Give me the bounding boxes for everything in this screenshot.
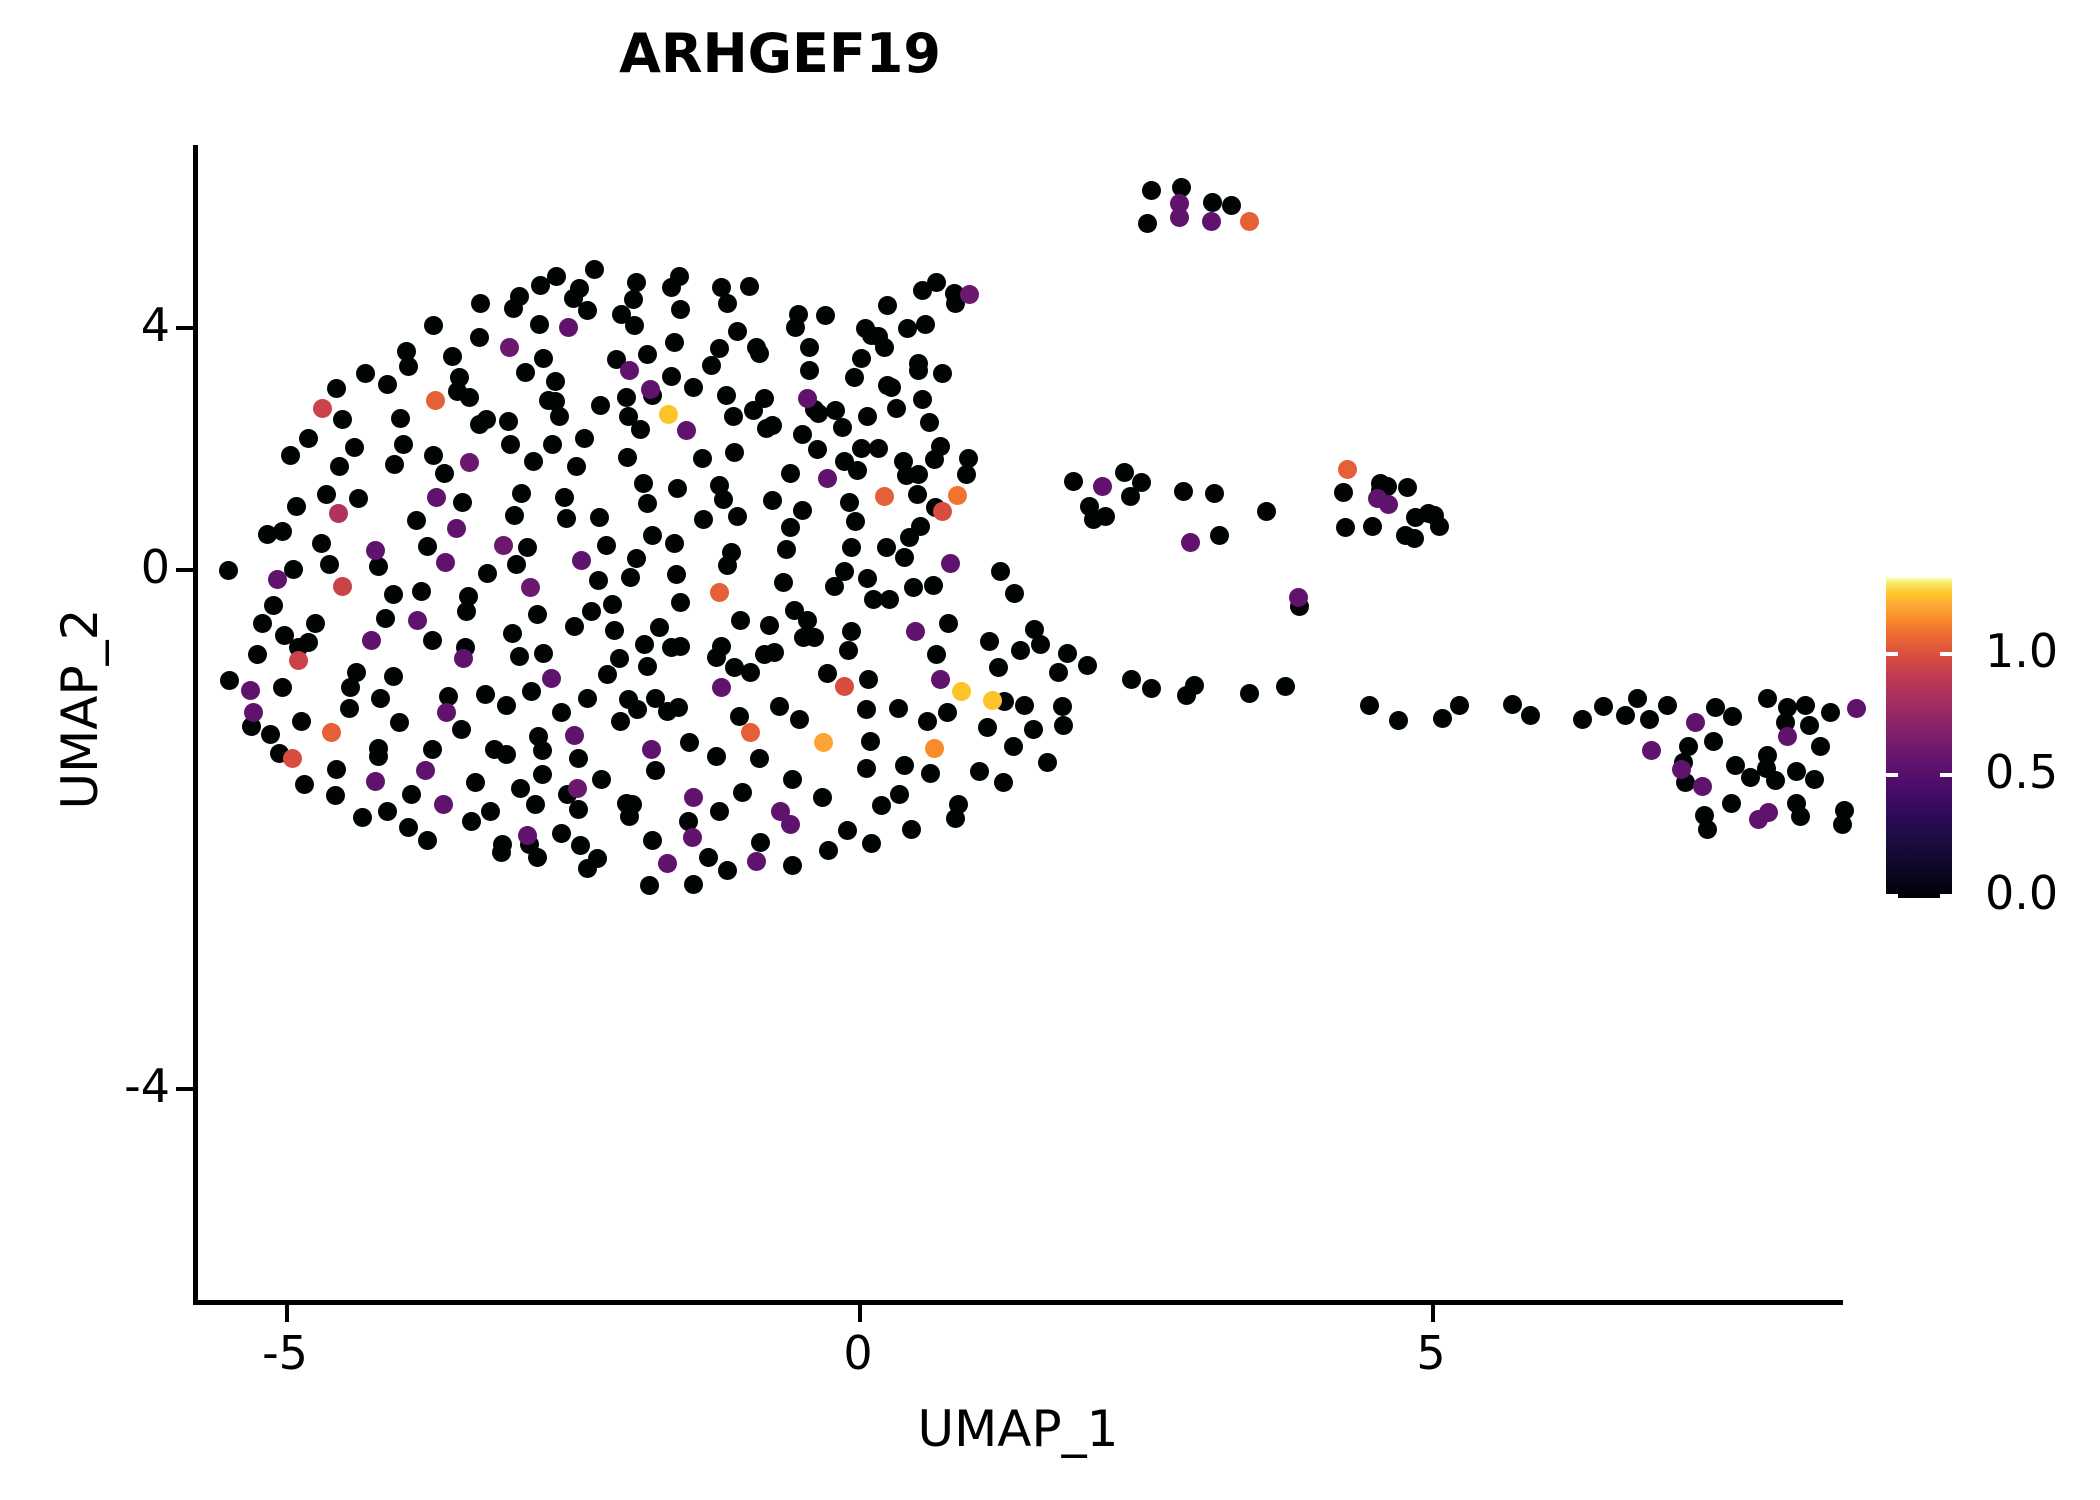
scatter-point: [592, 770, 611, 789]
scatter-point: [356, 364, 375, 383]
scatter-point: [578, 689, 597, 708]
scatter-point: [1847, 699, 1866, 718]
scatter-point: [909, 465, 928, 484]
scatter-point: [248, 645, 267, 664]
scatter-point: [619, 690, 638, 709]
scatter-point: [612, 305, 631, 324]
scatter-point: [591, 396, 610, 415]
scatter-point: [894, 452, 913, 471]
scatter-point: [518, 826, 537, 845]
scatter-point: [864, 590, 883, 609]
scatter-point: [989, 658, 1008, 677]
scatter-point: [1741, 768, 1760, 787]
scatter-point: [710, 339, 729, 358]
scatter-point: [1679, 737, 1698, 756]
scatter-point: [1726, 756, 1745, 775]
scatter-point: [512, 484, 531, 503]
scatter-point: [299, 633, 318, 652]
scatter-point: [677, 421, 696, 440]
scatter-point: [476, 685, 495, 704]
scatter-point: [933, 502, 952, 521]
scatter-point: [459, 587, 478, 606]
scatter-point: [1202, 212, 1221, 231]
scatter-point: [793, 501, 812, 520]
scatter-point: [665, 534, 684, 553]
scatter-point: [384, 585, 403, 604]
scatter-point: [718, 556, 737, 575]
scatter-point: [751, 833, 770, 852]
scatter-point: [911, 517, 930, 536]
scatter-point: [619, 407, 638, 426]
scatter-point: [800, 338, 819, 357]
scatter-point: [921, 764, 940, 783]
scatter-point: [856, 319, 875, 338]
scatter-point: [481, 802, 500, 821]
scatter-point: [443, 347, 462, 366]
scatter-point: [707, 648, 726, 667]
scatter-point: [552, 703, 571, 722]
scatter-point: [241, 681, 260, 700]
scatter-point: [547, 267, 566, 286]
scatter-point: [643, 831, 662, 850]
scatter-point: [1693, 777, 1712, 796]
scatter-point: [520, 835, 539, 854]
scatter-point: [1405, 529, 1424, 548]
scatter-point: [785, 601, 804, 620]
colorbar-tick-0.5-right: [1940, 773, 1952, 777]
scatter-point: [1433, 709, 1452, 728]
scatter-point: [889, 699, 908, 718]
scatter-point: [717, 386, 736, 405]
scatter-point: [623, 795, 642, 814]
x-tick-label-neg5: -5: [215, 1330, 355, 1376]
scatter-point: [564, 289, 583, 308]
scatter-point: [1222, 196, 1241, 215]
scatter-point: [712, 278, 731, 297]
scatter-point: [570, 279, 589, 298]
scatter-point: [852, 349, 871, 368]
scatter-point: [728, 322, 747, 341]
scatter-point: [909, 354, 928, 373]
scatter-point: [492, 843, 511, 862]
scatter-point: [781, 464, 800, 483]
scatter-point: [1776, 713, 1795, 732]
scatter-point: [635, 635, 654, 654]
scatter-point: [920, 413, 939, 432]
scatter-point: [1210, 526, 1229, 545]
scatter-point: [694, 510, 713, 529]
scatter-point: [567, 457, 586, 476]
scatter-point: [453, 493, 472, 512]
scatter-point: [872, 796, 891, 815]
scatter-point: [916, 315, 935, 334]
scatter-point: [777, 540, 796, 559]
scatter-point: [607, 350, 626, 369]
scatter-point: [435, 464, 454, 483]
scatter-point: [846, 512, 865, 531]
scatter-point: [926, 498, 945, 517]
scatter-point: [1787, 794, 1806, 813]
scatter-point: [349, 489, 368, 508]
scatter-point: [808, 440, 827, 459]
scatter-point: [994, 773, 1013, 792]
scatter-point: [765, 643, 784, 662]
scatter-point: [1796, 696, 1815, 715]
scatter-point: [895, 756, 914, 775]
scatter-point: [897, 466, 916, 485]
scatter-point: [1425, 506, 1444, 525]
scatter-point: [605, 621, 624, 640]
scatter-point: [668, 479, 687, 498]
scatter-point: [1389, 711, 1408, 730]
scatter-point: [258, 525, 277, 544]
scatter-point: [924, 576, 943, 595]
scatter-point: [869, 327, 888, 346]
scatter-point: [658, 854, 677, 873]
scatter-point: [631, 420, 650, 439]
scatter-point: [755, 645, 774, 664]
scatter-point: [794, 628, 813, 647]
scatter-point: [1334, 483, 1353, 502]
scatter-point: [333, 410, 352, 429]
scatter-point: [369, 747, 388, 766]
scatter-point: [646, 761, 665, 780]
scatter-point: [1024, 720, 1043, 739]
scatter-point: [840, 493, 859, 512]
scatter-point: [869, 439, 888, 458]
y-tick-mark-neg4: [176, 1087, 193, 1091]
scatter-point: [625, 316, 644, 335]
scatter-point: [650, 618, 669, 637]
scatter-point: [1371, 481, 1390, 500]
scatter-point: [1676, 773, 1695, 792]
scatter-point: [770, 697, 789, 716]
scatter-point: [877, 538, 896, 557]
scatter-point: [826, 401, 845, 420]
scatter-point: [1674, 753, 1693, 772]
scatter-point: [617, 794, 636, 813]
scatter-point: [1378, 477, 1397, 496]
scatter-point: [546, 372, 565, 391]
scatter-point: [219, 561, 238, 580]
scatter-point: [447, 519, 466, 538]
scatter-point: [665, 333, 684, 352]
scatter-point: [620, 361, 639, 380]
scatter-point: [1038, 753, 1057, 772]
scatter-point: [617, 388, 636, 407]
scatter-point: [452, 720, 471, 739]
scatter-point: [693, 449, 712, 468]
scatter-point: [671, 593, 690, 612]
scatter-point: [722, 543, 741, 562]
scatter-point: [275, 626, 294, 645]
scatter-point: [460, 453, 479, 472]
scatter-point: [918, 712, 937, 731]
scatter-point: [733, 783, 752, 802]
scatter-point: [643, 386, 662, 405]
scatter-point: [763, 491, 782, 510]
scatter-point: [466, 773, 485, 792]
scatter-point: [667, 565, 686, 584]
scatter-point: [1054, 716, 1073, 735]
scatter-point: [531, 276, 550, 295]
colorbar-tick-1.0-right: [1940, 652, 1952, 656]
scatter-point: [805, 400, 824, 419]
scatter-point: [333, 577, 352, 596]
scatter-point: [1170, 208, 1189, 227]
scatter-point: [244, 703, 263, 722]
scatter-point: [597, 536, 616, 555]
scatter-point: [744, 401, 763, 420]
scatter-point: [702, 356, 721, 375]
scatter-point: [818, 469, 837, 488]
scatter-point: [568, 779, 587, 798]
scatter-point: [862, 326, 881, 345]
scatter-point: [684, 875, 703, 894]
scatter-point: [887, 399, 906, 418]
scatter-point: [353, 808, 372, 827]
scatter-point: [1672, 760, 1691, 779]
scatter-point: [641, 380, 660, 399]
y-tick-mark-0: [176, 568, 193, 572]
scatter-point: [627, 549, 646, 568]
scatter-point: [578, 301, 597, 320]
scatter-point: [789, 305, 808, 324]
scatter-point: [572, 551, 591, 570]
scatter-point: [306, 614, 325, 633]
scatter-point: [497, 696, 516, 715]
scatter-point: [1031, 635, 1050, 654]
scatter-point: [493, 835, 512, 854]
scatter-point: [1240, 212, 1259, 231]
scatter-point: [725, 658, 744, 677]
colorbar-label-0.0: 0.0: [1985, 870, 2100, 916]
scatter-point: [399, 818, 418, 837]
scatter-point: [457, 602, 476, 621]
scatter-point: [1757, 759, 1776, 778]
scatter-point: [1172, 178, 1191, 197]
scatter-point: [755, 389, 774, 408]
scatter-point: [1642, 741, 1661, 760]
umap-feature-plot: ARHGEF19 4 0 -4 -5 0 5 UMAP_1 UMAP_2 1.0…: [0, 0, 2100, 1500]
scatter-point: [485, 740, 504, 759]
scatter-point: [312, 534, 331, 553]
scatter-point: [478, 564, 497, 583]
scatter-point: [1658, 696, 1677, 715]
scatter-point: [699, 848, 718, 867]
scatter-point: [261, 725, 280, 744]
scatter-point: [1758, 746, 1777, 765]
scatter-point: [882, 378, 901, 397]
scatter-point: [938, 703, 957, 722]
scatter-point: [662, 278, 681, 297]
scatter-point: [1640, 710, 1659, 729]
scatter-point: [857, 700, 876, 719]
scatter-point: [264, 596, 283, 615]
scatter-point: [543, 435, 562, 454]
scatter-point: [813, 788, 832, 807]
scatter-point: [1115, 463, 1134, 482]
scatter-point: [1142, 181, 1161, 200]
scatter-point: [559, 318, 578, 337]
scatter-point: [845, 368, 864, 387]
scatter-point: [394, 435, 413, 454]
scatter-point: [1758, 689, 1777, 708]
scatter-point: [731, 611, 750, 630]
y-axis-title: UMAP_2: [51, 309, 109, 1109]
scatter-point: [555, 488, 574, 507]
scatter-point: [1138, 214, 1157, 233]
scatter-point: [369, 557, 388, 576]
scatter-point: [571, 836, 590, 855]
scatter-point: [1064, 472, 1083, 491]
scatter-point: [819, 841, 838, 860]
scatter-point: [857, 759, 876, 778]
scatter-point: [499, 412, 518, 431]
scatter-point: [925, 450, 944, 469]
scatter-point: [437, 703, 456, 722]
scatter-point: [510, 647, 529, 666]
scatter-point: [904, 578, 923, 597]
scatter-point: [718, 861, 737, 880]
scatter-point: [504, 299, 523, 318]
scatter-point: [683, 828, 702, 847]
scatter-point: [875, 338, 894, 357]
scatter-point: [424, 316, 443, 335]
scatter-point: [270, 744, 289, 763]
scatter-point: [550, 407, 569, 426]
scatter-point: [1121, 487, 1140, 506]
scatter-point: [1290, 597, 1309, 616]
scatter-point: [747, 852, 766, 871]
scatter-point: [983, 691, 1002, 710]
scatter-point: [805, 628, 824, 647]
scatter-point: [292, 712, 311, 731]
scatter-point: [557, 509, 576, 528]
scatter-point: [588, 849, 607, 868]
scatter-point: [424, 446, 443, 465]
scatter-point: [1686, 713, 1705, 732]
scatter-point: [730, 707, 749, 726]
scatter-point: [671, 637, 690, 656]
scatter-point: [818, 664, 837, 683]
scatter-point: [740, 277, 759, 296]
colorbar-gradient: [1886, 578, 1952, 898]
scatter-point: [1053, 697, 1072, 716]
scatter-point: [1450, 696, 1469, 715]
scatter-point: [284, 560, 303, 579]
scatter-point: [948, 486, 967, 505]
scatter-point: [941, 554, 960, 573]
scatter-point: [1289, 588, 1308, 607]
scatter-point: [1058, 644, 1077, 663]
scatter-point: [1096, 507, 1115, 526]
scatter-point: [906, 622, 925, 641]
scatter-point: [890, 785, 909, 804]
scatter-point: [423, 740, 442, 759]
scatter-point: [835, 677, 854, 696]
colorbar-label-1.0: 1.0: [1985, 628, 2100, 674]
scatter-point: [790, 710, 809, 729]
scatter-point: [289, 638, 308, 657]
scatter-point: [1093, 477, 1112, 496]
scatter-point: [575, 429, 594, 448]
scatter-point: [1257, 502, 1276, 521]
scatter-point: [908, 485, 927, 504]
y-tick-mark-4: [176, 326, 193, 330]
scatter-point: [366, 772, 385, 791]
scatter-point: [390, 713, 409, 732]
scatter-point: [710, 583, 729, 602]
scatter-point: [895, 548, 914, 567]
x-axis-title: UMAP_1: [193, 1400, 1843, 1458]
scatter-point: [582, 602, 601, 621]
scatter-point: [456, 638, 475, 657]
scatter-point: [659, 405, 678, 424]
scatter-point: [949, 795, 968, 814]
scatter-point: [299, 429, 318, 448]
scatter-point: [1573, 710, 1592, 729]
scatter-point: [710, 476, 729, 495]
scatter-point: [273, 678, 292, 697]
x-tick-mark-neg5: [285, 1305, 289, 1322]
scatter-point: [852, 439, 871, 458]
scatter-point: [991, 562, 1010, 581]
colorbar-tick-0.0-right: [1940, 894, 1952, 898]
page-title: ARHGEF19: [0, 22, 1560, 85]
scatter-point: [913, 390, 932, 409]
scatter-point: [598, 665, 617, 684]
scatter-point: [628, 700, 647, 719]
scatter-point: [327, 760, 346, 779]
scatter-point: [945, 284, 964, 303]
scatter-point: [1805, 770, 1824, 789]
scatter-point: [848, 461, 867, 480]
scatter-point: [825, 577, 844, 596]
scatter-point: [750, 344, 769, 363]
scatter-point: [510, 287, 529, 306]
scatter-point: [460, 388, 479, 407]
scatter-point: [322, 723, 341, 742]
scatter-point: [534, 644, 553, 663]
scatter-point: [295, 775, 314, 794]
scatter-point: [1363, 517, 1382, 536]
scatter-point: [287, 497, 306, 516]
scatter-point: [268, 570, 287, 589]
scatter-point: [946, 294, 965, 313]
scatter-point: [399, 357, 418, 376]
x-tick-label-0: 0: [788, 1330, 928, 1376]
x-axis-line: [193, 1300, 1843, 1305]
scatter-point: [1704, 732, 1723, 751]
scatter-point: [376, 609, 395, 628]
scatter-point: [558, 785, 577, 804]
scatter-point: [1132, 473, 1151, 492]
x-tick-mark-5: [1431, 1305, 1435, 1322]
scatter-point: [423, 631, 442, 650]
scatter-point: [679, 812, 698, 831]
scatter-point: [426, 391, 445, 410]
scatter-point: [402, 785, 421, 804]
scatter-point: [436, 553, 455, 572]
scatter-point: [1142, 679, 1161, 698]
scatter-point: [816, 306, 835, 325]
scatter-point: [500, 338, 519, 357]
colorbar-tick-1.0-left: [1886, 652, 1898, 656]
scatter-point: [741, 723, 760, 742]
scatter-point: [995, 692, 1014, 711]
scatter-point: [627, 273, 646, 292]
